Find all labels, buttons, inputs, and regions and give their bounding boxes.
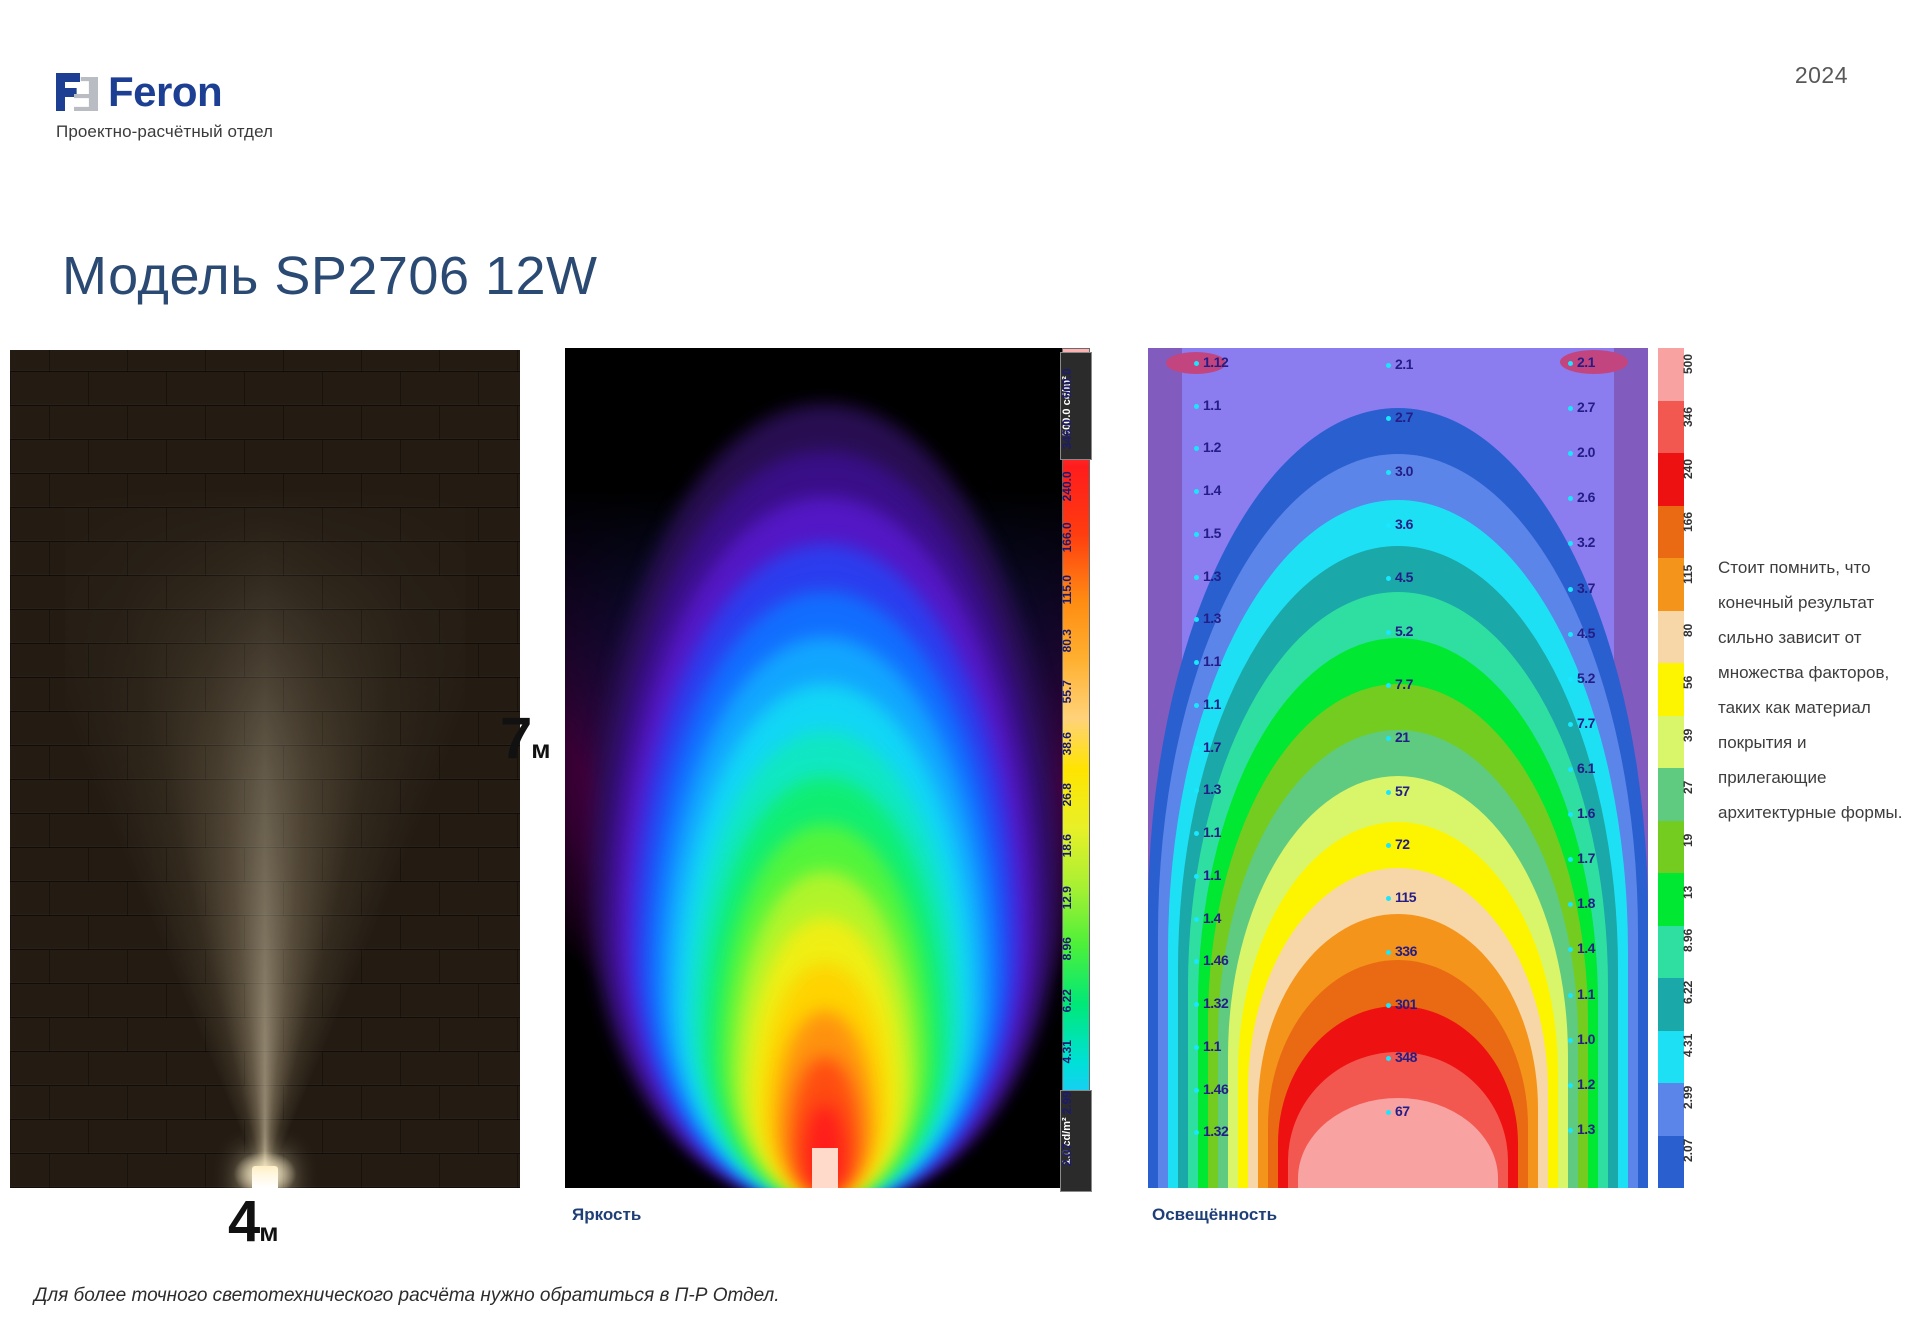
brand-name: Feron [108, 71, 222, 113]
illuminance-grid-dot [1568, 587, 1573, 592]
luminance-tick-15: 2.07 [1060, 1131, 1084, 1178]
illuminance-grid-dot [1568, 632, 1573, 637]
illuminance-value-center-5: 5.2 [1395, 623, 1413, 639]
illuminance-scale-label-9: 19 [1681, 833, 1695, 846]
illuminance-value-left-9: 1.7 [1203, 739, 1221, 755]
illuminance-scale-label-5: 80 [1681, 623, 1695, 636]
illuminance-grid-dot [1386, 790, 1391, 795]
photo-render-panel [10, 350, 520, 1188]
illuminance-grid-dot [1194, 532, 1199, 537]
illuminance-grid-dot [1194, 917, 1199, 922]
illuminance-value-right-0: 2.1 [1577, 354, 1595, 370]
illuminance-grid-dot [1568, 406, 1573, 411]
luminance-tick-14: 2.99 [1060, 1079, 1084, 1126]
illuminance-value-left-17: 1.46 [1203, 1081, 1228, 1097]
luminance-tick-2: 240.0 [1060, 463, 1084, 510]
illuminance-grid-dot [1194, 746, 1199, 751]
illuminance-value-center-0: 2.1 [1395, 356, 1413, 372]
illuminance-value-right-8: 7.7 [1577, 715, 1595, 731]
illuminance-grid-dot [1386, 630, 1391, 635]
illuminance-value-right-11: 1.7 [1577, 850, 1595, 866]
illuminance-value-center-8: 57 [1395, 783, 1410, 799]
illuminance-scale-label-4: 115 [1681, 565, 1695, 584]
dimension-width: 4м [228, 1188, 278, 1255]
illuminance-grid-dot [1568, 1083, 1573, 1088]
luminance-tick-3: 166.0 [1060, 514, 1084, 561]
illuminance-grid-dot [1568, 767, 1573, 772]
illuminance-grid-dot [1386, 523, 1391, 528]
illuminance-scale-label-14: 2.99 [1681, 1086, 1695, 1109]
illuminance-value-center-7: 21 [1395, 729, 1410, 745]
illuminance-value-left-13: 1.4 [1203, 910, 1221, 926]
luminance-heatmap-panel [565, 348, 1085, 1188]
illuminance-grid-dot [1568, 496, 1573, 501]
illuminance-scale-label-2: 240 [1681, 459, 1695, 479]
illuminance-grid-dot [1386, 1110, 1391, 1115]
luminance-plume [565, 368, 1085, 1188]
illuminance-value-left-18: 1.32 [1203, 1123, 1228, 1139]
luminance-fixture-marker [812, 1148, 838, 1188]
illuminance-grid-dot [1568, 722, 1573, 727]
illuminance-scale-band-14: 2.99 [1658, 1083, 1684, 1136]
illuminance-value-center-3: 3.6 [1395, 516, 1413, 532]
illuminance-value-center-4: 4.5 [1395, 569, 1413, 585]
luminance-tick-10: 12.9 [1060, 874, 1084, 921]
illuminance-value-right-13: 1.4 [1577, 940, 1595, 956]
illuminance-grid-dot [1194, 575, 1199, 580]
illuminance-value-right-6: 4.5 [1577, 625, 1595, 641]
illuminance-scale-label-12: 6.22 [1681, 981, 1695, 1004]
luminance-tick-4: 115.0 [1060, 566, 1084, 613]
illuminance-value-center-10: 115 [1395, 889, 1416, 905]
luminance-tick-7: 38.6 [1060, 720, 1084, 767]
illuminance-scale-band-0: 500 [1658, 348, 1684, 401]
luminance-tick-12: 6.22 [1060, 977, 1084, 1024]
illuminance-grid-dot [1386, 363, 1391, 368]
illuminance-value-right-17: 1.3 [1577, 1121, 1595, 1137]
illuminance-value-left-0: 1.12 [1203, 354, 1228, 370]
illuminance-grid-dot [1568, 993, 1573, 998]
page-title: Модель SP2706 12W [62, 245, 598, 307]
illuminance-value-right-7: 5.2 [1577, 670, 1595, 686]
illuminance-scale-label-11: 8.96 [1681, 928, 1695, 951]
illuminance-grid-dot [1194, 446, 1199, 451]
illuminance-value-right-3: 2.6 [1577, 489, 1595, 505]
illuminance-value-left-7: 1.1 [1203, 653, 1221, 669]
illuminance-value-center-6: 7.7 [1395, 676, 1413, 692]
dimension-height: 7м [500, 705, 550, 772]
illuminance-scale-label-7: 39 [1681, 728, 1695, 741]
illuminance-grid-dot [1568, 1128, 1573, 1133]
luminaire-fixture [252, 1166, 278, 1188]
illuminance-value-left-11: 1.1 [1203, 824, 1221, 840]
illuminance-scale-band-10: 13 [1658, 873, 1684, 926]
illuminance-value-left-8: 1.1 [1203, 696, 1221, 712]
illuminance-scale-label-0: 500 [1681, 354, 1695, 374]
illuminance-scale-band-7: 39 [1658, 716, 1684, 769]
illuminance-scale-label-10: 13 [1681, 886, 1695, 899]
illuminance-value-right-12: 1.8 [1577, 895, 1595, 911]
illuminance-scale-band-8: 27 [1658, 768, 1684, 821]
luminance-tick-9: 18.6 [1060, 822, 1084, 869]
illuminance-value-center-9: 72 [1395, 836, 1410, 852]
illuminance-scale-band-13: 4.31 [1658, 1031, 1684, 1084]
illuminance-grid-dot [1568, 1038, 1573, 1043]
illuminance-scale-band-9: 19 [1658, 821, 1684, 874]
illuminance-scale-band-4: 115 [1658, 558, 1684, 611]
illuminance-value-left-15: 1.32 [1203, 995, 1228, 1011]
illuminance-grid-dot [1194, 361, 1199, 366]
illuminance-value-left-10: 1.3 [1203, 781, 1221, 797]
illuminance-value-left-6: 1.3 [1203, 610, 1221, 626]
illuminance-grid-dot [1194, 874, 1199, 879]
side-note: Стоит помнить, что конечный результат си… [1718, 550, 1918, 830]
illuminance-grid-dot [1194, 703, 1199, 708]
illuminance-scale-band-15: 2.07 [1658, 1136, 1684, 1189]
illuminance-scale-band-5: 80 [1658, 611, 1684, 664]
illuminance-value-center-11: 336 [1395, 943, 1417, 959]
illuminance-scale-label-15: 2.07 [1681, 1138, 1695, 1161]
footer-note: Для более точного светотехнического расч… [34, 1285, 780, 1307]
illuminance-grid-dot [1568, 361, 1573, 366]
luminance-tick-0: 500.0 [1060, 360, 1084, 407]
illuminance-scale-band-6: 56 [1658, 663, 1684, 716]
illuminance-scale-band-1: 346 [1658, 401, 1684, 454]
illuminance-value-right-4: 3.2 [1577, 534, 1595, 550]
light-beam [65, 488, 465, 1188]
luminance-tick-5: 80.3 [1060, 617, 1084, 664]
illuminance-scale-band-12: 6.22 [1658, 978, 1684, 1031]
feron-logo-icon [56, 73, 98, 111]
illuminance-contour-panel: 1.121.11.21.41.51.31.31.11.11.71.31.11.1… [1148, 348, 1648, 1188]
illuminance-grid-dot [1194, 1088, 1199, 1093]
year-label: 2024 [1795, 62, 1848, 89]
luminance-tick-6: 55.7 [1060, 668, 1084, 715]
illuminance-value-right-9: 6.1 [1577, 760, 1595, 776]
illuminance-grid-dot [1568, 677, 1573, 682]
illuminance-grid-dot [1386, 470, 1391, 475]
department-label: Проектно-расчётный отдел [56, 122, 476, 142]
illuminance-scale-band-2: 240 [1658, 453, 1684, 506]
illuminance-scale-band-11: 8.96 [1658, 926, 1684, 979]
illuminance-value-right-1: 2.7 [1577, 399, 1595, 415]
caption-illuminance: Освещённость [1152, 1205, 1277, 1225]
illuminance-value-left-14: 1.46 [1203, 952, 1228, 968]
illuminance-scale-label-13: 4.31 [1681, 1033, 1695, 1056]
illuminance-value-right-2: 2.0 [1577, 444, 1595, 460]
illuminance-value-right-15: 1.0 [1577, 1031, 1595, 1047]
illuminance-color-scale: 5003462401661158056392719138.966.224.312… [1658, 348, 1684, 1188]
illuminance-grid-dot [1194, 489, 1199, 494]
illuminance-value-center-14: 67 [1395, 1103, 1410, 1119]
illuminance-scale-band-3: 166 [1658, 506, 1684, 559]
illuminance-value-left-1: 1.1 [1203, 397, 1221, 413]
illuminance-value-right-5: 3.7 [1577, 580, 1595, 596]
illuminance-grid-dot [1568, 541, 1573, 546]
illuminance-value-right-10: 1.6 [1577, 805, 1595, 821]
illuminance-grid-dot [1386, 950, 1391, 955]
logo: Feron [56, 70, 476, 114]
illuminance-grid-dot [1568, 451, 1573, 456]
illuminance-scale-label-8: 27 [1681, 781, 1695, 794]
illuminance-value-left-2: 1.2 [1203, 439, 1221, 455]
illuminance-value-left-4: 1.5 [1203, 525, 1221, 541]
caption-luminance: Яркость [572, 1205, 641, 1225]
illuminance-grid-dot [1386, 683, 1391, 688]
illuminance-scale-label-3: 166 [1681, 512, 1695, 532]
illuminance-value-left-12: 1.1 [1203, 867, 1221, 883]
illuminance-value-center-12: 301 [1395, 996, 1417, 1012]
illuminance-value-right-14: 1.1 [1577, 986, 1595, 1002]
illuminance-value-right-16: 1.2 [1577, 1076, 1595, 1092]
illuminance-scale-label-6: 56 [1681, 676, 1695, 689]
illuminance-grid-dot [1386, 1003, 1391, 1008]
luminance-tick-13: 4.31 [1060, 1028, 1084, 1075]
illuminance-value-left-5: 1.3 [1203, 568, 1221, 584]
luminance-tick-8: 26.8 [1060, 771, 1084, 818]
illuminance-scale-label-1: 346 [1681, 407, 1695, 427]
illuminance-value-left-16: 1.1 [1203, 1038, 1221, 1054]
luminance-tick-11: 8.96 [1060, 925, 1084, 972]
illuminance-grid-dot [1194, 404, 1199, 409]
illuminance-grid-dot [1386, 843, 1391, 848]
illuminance-grid-dot [1194, 1045, 1199, 1050]
illuminance-value-left-3: 1.4 [1203, 482, 1221, 498]
brand-block: Feron Проектно-расчётный отдел [56, 70, 476, 142]
luminance-tick-1: 346.0 [1060, 411, 1084, 458]
illuminance-value-center-2: 3.0 [1395, 463, 1413, 479]
illuminance-value-center-13: 348 [1395, 1049, 1417, 1065]
illuminance-value-center-1: 2.7 [1395, 409, 1413, 425]
